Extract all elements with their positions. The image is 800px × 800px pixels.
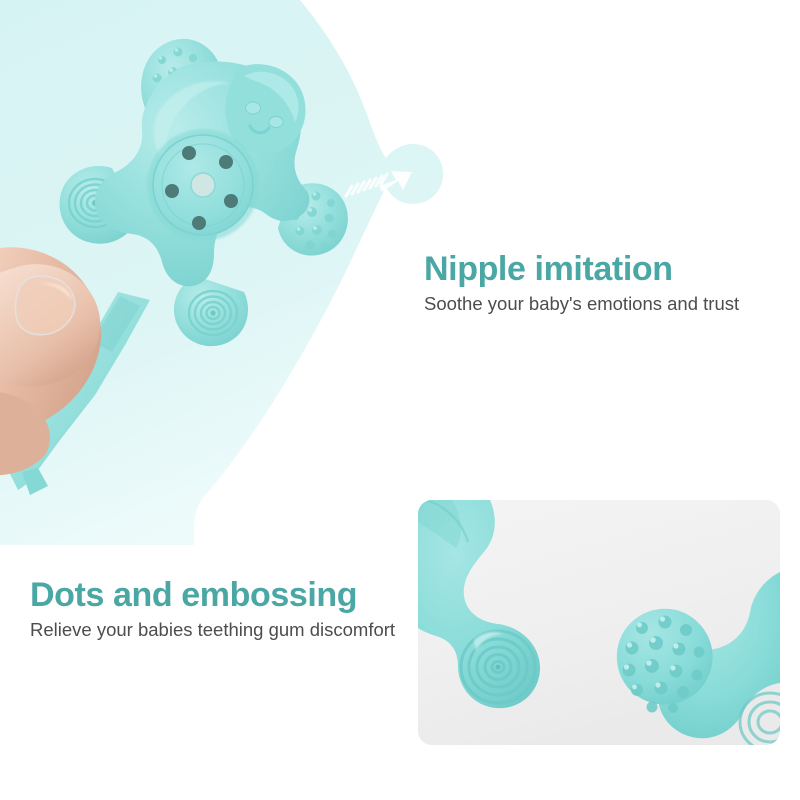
feature-subtitle-dots-and-embossing: Relieve your babies teething gum discomf… — [30, 618, 400, 642]
infographic-canvas: Nipple imitation Soothe your baby's emot… — [0, 0, 800, 800]
nipple-imitation-disc — [147, 129, 259, 241]
feature-title-dots-and-embossing: Dots and embossing — [30, 578, 400, 614]
feature-title-nipple-imitation: Nipple imitation — [424, 252, 739, 288]
feature-block-nipple-imitation: Nipple imitation Soothe your baby's emot… — [424, 252, 739, 315]
feature-block-dots-and-embossing: Dots and embossing Relieve your babies t… — [30, 578, 400, 641]
bear-face-emboss — [226, 64, 306, 154]
feature-subtitle-nipple-imitation: Soothe your baby's emotions and trust — [424, 292, 739, 316]
teether-body — [60, 39, 348, 346]
texture-close-up-card — [418, 500, 780, 745]
lobe-bottom — [174, 276, 248, 346]
hero-product-photo — [0, 0, 420, 545]
motion-arrow — [346, 171, 412, 196]
